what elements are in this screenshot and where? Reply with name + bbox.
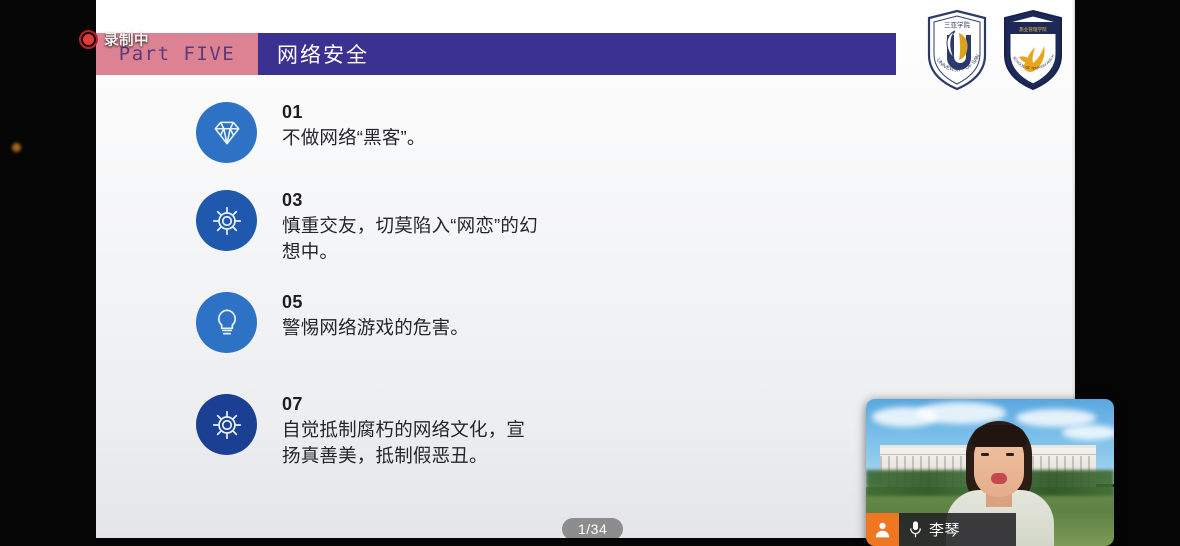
page-indicator: 1/34 [562,518,623,538]
person-avatar-icon [866,513,899,546]
item-description: 自觉抵制腐朽的网络文化，宣扬真善美，抵制假恶丑。 [282,417,542,470]
screen-root: 录制中 Part FIVE 网络安全 三亚学院 UNIVERSITY OF SA… [0,0,1180,546]
diamond-icon [196,102,257,163]
list-item-text: 01 不做网络“黑客”。 [282,98,426,151]
grid-column-left-1: 01 不做网络“黑客”。 [96,98,586,186]
logo-group: 三亚学院 UNIVERSITY OF SANYA 旅业管理学院 SCHOOL O… [925,9,1065,91]
ambient-indicator-dot [12,143,21,152]
record-dot-icon [79,30,98,49]
list-item[interactable]: 06 警惕网络黄赌毒。 [586,288,1076,380]
school-of-tourism-hotel-management-logo: 旅业管理学院 SCHOOL OF TOURISM AND HOTEL MANAG… [1001,9,1065,91]
grid-column-right-3: 06 警惕网络黄赌毒。 [586,288,1076,390]
list-item[interactable]: 05 警惕网络游戏的危害。 [96,288,586,380]
list-item[interactable]: 04 警惕网购骗局。 [586,186,1076,278]
item-description: 不做网络“黑客”。 [282,125,426,151]
list-item-text: 03 慎重交友，切莫陷入“网恋”的幻想中。 [282,186,542,265]
page-title: 网络安全 [277,39,369,69]
recording-status-badge: 录制中 [79,29,149,50]
list-item-text: 07 自觉抵制腐朽的网络文化，宣扬真善美，抵制假恶丑。 [282,390,542,469]
list-item[interactable]: 02 不造谣、不信谣、不传谣。 [586,98,1076,176]
item-number: 01 [282,103,426,123]
list-item-text: 05 警惕网络游戏的危害。 [282,288,469,341]
university-of-sanya-logo: 三亚学院 UNIVERSITY OF SANYA [925,9,989,91]
gear-icon [196,190,257,251]
item-description: 警惕网络游戏的危害。 [282,315,469,341]
item-description: 慎重交友，切莫陷入“网恋”的幻想中。 [282,213,542,266]
gear-icon [196,394,257,455]
svg-text:旅业管理学院: 旅业管理学院 [1019,26,1047,33]
slide-title-block: 网络安全 [258,33,896,75]
video-name-bar: 李琴 [866,513,1016,546]
list-item[interactable]: 07 自觉抵制腐朽的网络文化，宣扬真善美，抵制假恶丑。 [96,390,586,482]
slide-header-band: Part FIVE 网络安全 [96,33,896,75]
grid-column-left-3: 05 警惕网络游戏的危害。 [96,288,586,390]
list-item[interactable]: 01 不做网络“黑客”。 [96,98,586,176]
grid-column-left-4: 07 自觉抵制腐朽的网络文化，宣扬真善美，抵制假恶丑。 [96,390,586,492]
list-item[interactable]: 03 慎重交友，切莫陷入“网恋”的幻想中。 [96,186,586,278]
participant-video-tile[interactable]: 李琴 [866,399,1114,546]
recording-label: 录制中 [104,29,149,50]
grid-column-right-1: 02 不造谣、不信谣、不传谣。 [586,98,1076,186]
item-number: 03 [282,191,542,211]
item-number: 05 [282,293,469,313]
microphone-icon [908,520,923,539]
item-number: 07 [282,395,542,415]
mic-status[interactable]: 李琴 [908,519,960,540]
lightbulb-icon [196,292,257,353]
participant-name: 李琴 [929,519,960,540]
svg-text:三亚学院: 三亚学院 [944,20,971,29]
grid-column-left-2: 03 慎重交友，切莫陷入“网恋”的幻想中。 [96,186,586,288]
grid-column-right-2: 04 警惕网购骗局。 [586,186,1076,288]
